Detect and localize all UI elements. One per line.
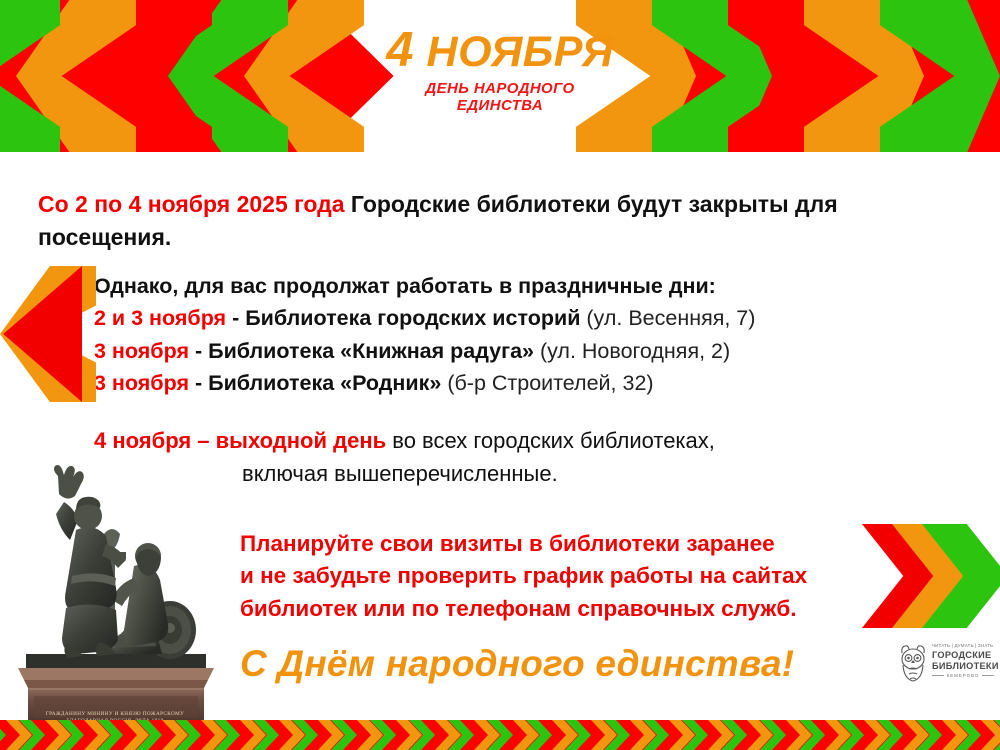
header-date-month: НОЯБРЯ <box>427 28 614 76</box>
schedule-row: 2 и 3 ноября - Библиотека городских исто… <box>94 302 974 334</box>
schedule-row-name: Библиотека «Родник» <box>208 371 441 395</box>
greeting-text: С Днём народного единства! <box>240 643 794 685</box>
poster-canvas: 4 НОЯБРЯ ДЕНЬ НАРОДНОГО ЕДИНСТВА Со 2 по… <box>0 0 1000 750</box>
schedule-heading: Однако, для вас продолжат работать в пра… <box>94 270 974 302</box>
logo-name-line2: БИБЛИОТЕКИ <box>932 661 994 671</box>
schedule-row-dash: - <box>189 371 208 395</box>
schedule-row-name: Библиотека городских историй <box>245 306 580 330</box>
schedule-row-address: (ул. Весенняя, 7) <box>580 306 755 330</box>
schedule-row-dash: - <box>226 306 245 330</box>
holiday-note-line2: включая вышеперечисленные. <box>242 457 954 490</box>
announcement-paragraph: Со 2 по 4 ноября 2025 года Городские биб… <box>38 188 948 253</box>
monument-illustration <box>8 448 224 728</box>
schedule-row-name: Библиотека «Книжная радуга» <box>208 339 534 363</box>
schedule-row-day: 3 ноября <box>94 339 189 363</box>
logo-tagline: ЧИТАТЬ | ДУМАТЬ | ЗНАТЬ <box>932 644 994 648</box>
schedule-row-day: 3 ноября <box>94 371 189 395</box>
bottom-chevron-stripe <box>0 720 1000 750</box>
plan-note: Планируйте свои визиты в библиотеки зара… <box>240 528 920 625</box>
city-libraries-logo[interactable]: ЧИТАТЬ | ДУМАТЬ | ЗНАТЬ ГОРОДСКИЕ БИБЛИО… <box>898 640 994 694</box>
right-chevron-decoration <box>862 524 1000 628</box>
holiday-note-rest: во всех городских библиотеках, <box>386 428 715 453</box>
plan-note-line3: библиотек или по телефонам справочных сл… <box>240 593 920 625</box>
owl-icon <box>898 643 928 683</box>
schedule-row-day: 2 и 3 ноября <box>94 306 226 330</box>
logo-city-name: КЕМЕРОВО <box>947 673 980 678</box>
left-chevron-decoration <box>0 266 96 402</box>
logo-text-group: ЧИТАТЬ | ДУМАТЬ | ЗНАТЬ ГОРОДСКИЕ БИБЛИО… <box>932 640 994 678</box>
schedule-block: Однако, для вас продолжат работать в пра… <box>94 270 974 399</box>
logo-rule-right <box>982 675 994 676</box>
plan-note-line2: и не забудьте проверить график работы на… <box>240 560 920 592</box>
header-date: 4 НОЯБРЯ <box>310 26 690 75</box>
schedule-row-address: (б-р Строителей, 32) <box>441 371 653 395</box>
logo-name-line1: ГОРОДСКИЕ <box>932 650 994 660</box>
schedule-row: 3 ноября - Библиотека «Родник» (б-р Стро… <box>94 367 974 399</box>
announcement-dates: Со 2 по 4 ноября 2025 года <box>38 191 345 217</box>
minin-pozharsky-monument-image: ГРАЖДАНИНУ МИНИНУ И КНЯЗЮ ПОЖАРСКОМУ БЛА… <box>8 448 224 728</box>
header-banner: 4 НОЯБРЯ ДЕНЬ НАРОДНОГО ЕДИНСТВА <box>0 0 1000 152</box>
header-subtitle-line2: ЕДИНСТВА <box>310 98 690 115</box>
header-title-group: 4 НОЯБРЯ ДЕНЬ НАРОДНОГО ЕДИНСТВА <box>310 26 690 115</box>
header-date-number: 4 <box>386 23 414 77</box>
schedule-row: 3 ноября - Библиотека «Книжная радуга» (… <box>94 335 974 367</box>
plan-note-line1: Планируйте свои визиты в библиотеки зара… <box>240 528 920 560</box>
schedule-row-dash: - <box>189 339 208 363</box>
header-subtitle-line1: ДЕНЬ НАРОДНОГО <box>310 81 690 98</box>
logo-rule-left <box>932 675 944 676</box>
header-subtitle: ДЕНЬ НАРОДНОГО ЕДИНСТВА <box>310 81 690 115</box>
logo-city-row: КЕМЕРОВО <box>932 673 994 678</box>
monument-inscription-line1: ГРАЖДАНИНУ МИНИНУ И КНЯЗЮ ПОЖАРСКОМУ <box>22 711 208 718</box>
schedule-row-address: (ул. Новогодняя, 2) <box>534 339 730 363</box>
